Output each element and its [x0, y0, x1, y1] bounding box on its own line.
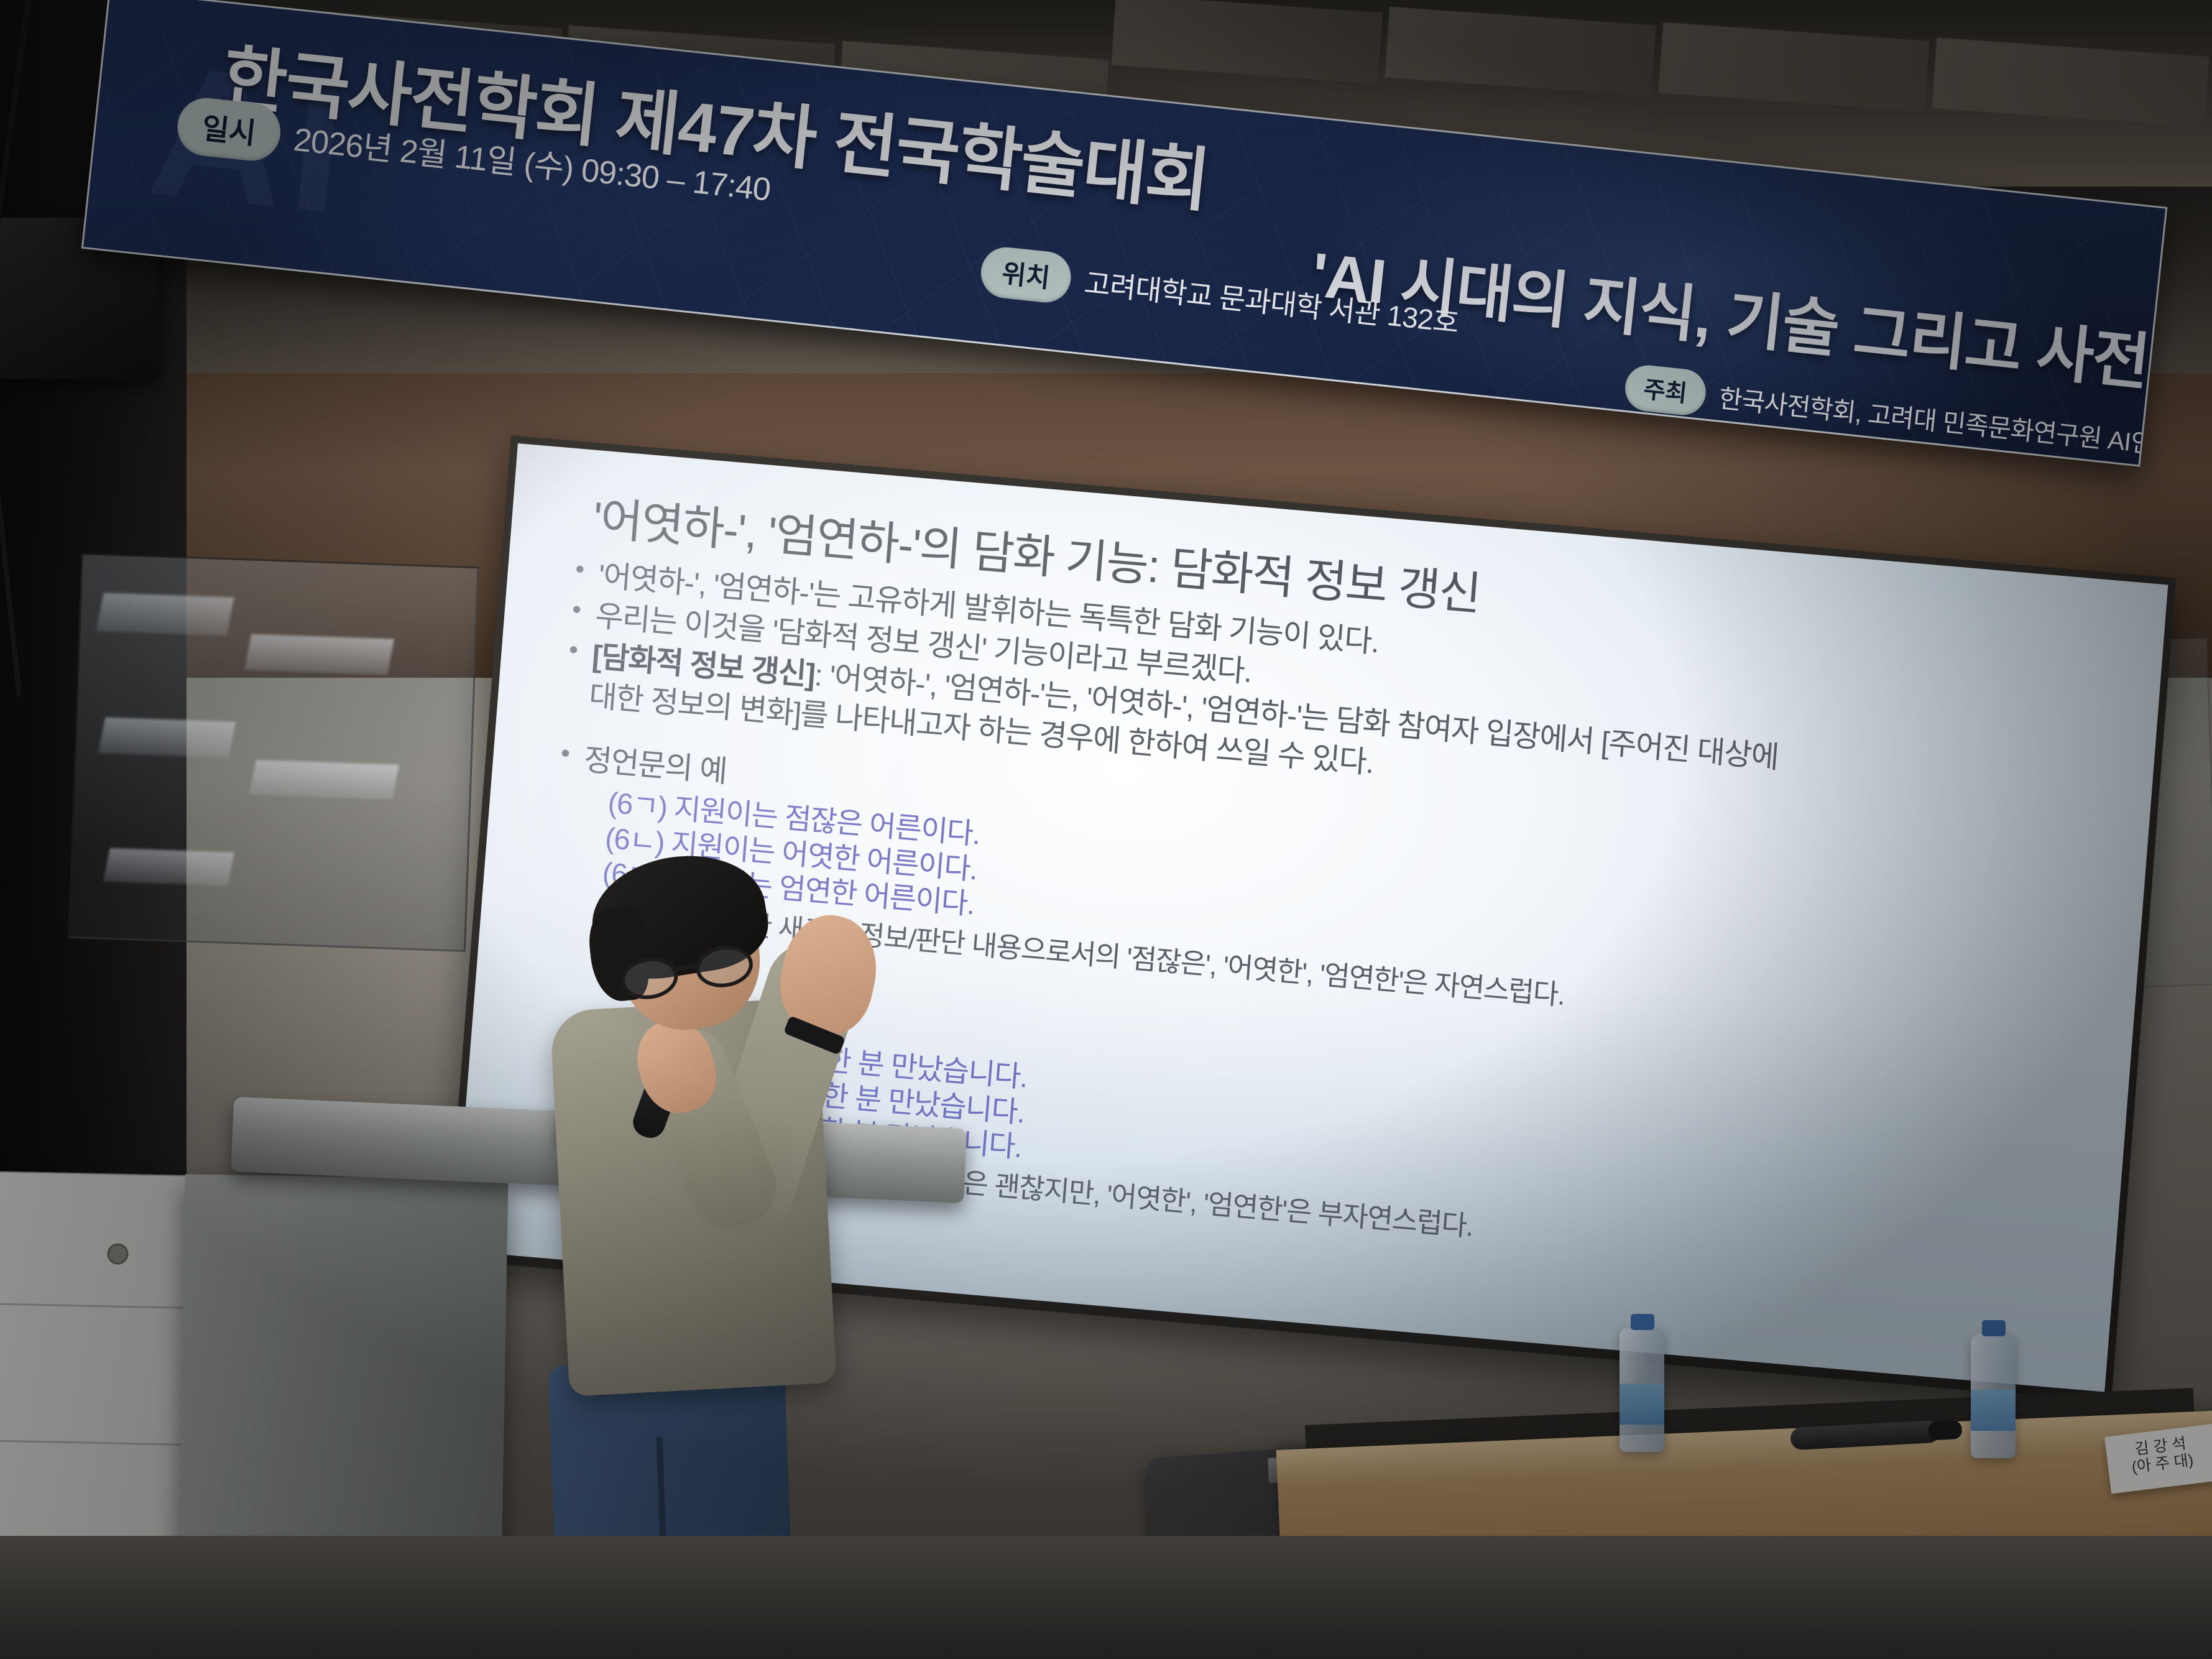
place-label-pill: 위치 — [979, 245, 1074, 305]
lecture-hall-photo: AI 한국사전학회 제47차 전국학술대회 'AI 시대의 지식, 기술 그리고… — [0, 0, 2212, 1659]
bottle-cap — [1631, 1314, 1654, 1330]
ceiling-tile — [1932, 37, 2210, 127]
bottle-cap — [1982, 1320, 2006, 1336]
bottle-label — [1620, 1384, 1664, 1425]
water-bottle — [1620, 1328, 1664, 1452]
bottle-label — [1971, 1390, 2016, 1431]
wall-window-left — [68, 553, 479, 952]
ceiling-tile — [1385, 6, 1656, 96]
water-bottle — [1971, 1334, 2016, 1458]
floor — [0, 1536, 2212, 1659]
ceiling-tile — [1658, 22, 1930, 112]
ceiling-tile — [1111, 0, 1383, 84]
host-label-pill: 주최 — [1623, 363, 1708, 417]
date-label-pill: 일시 — [175, 95, 283, 164]
